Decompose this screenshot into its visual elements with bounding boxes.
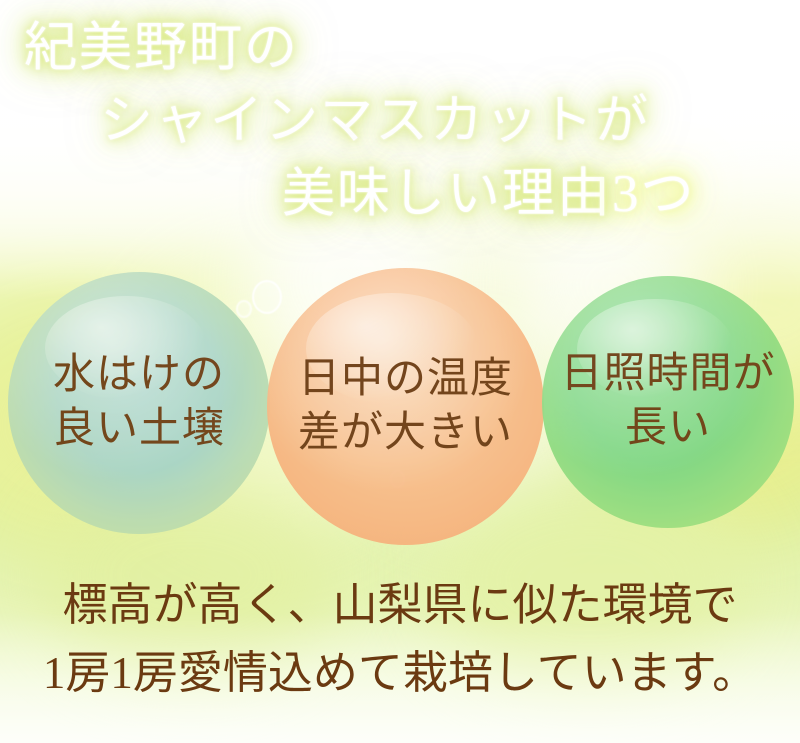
headline: 紀美野町の シャインマスカットが 美味しい理由3つ [0,8,800,221]
headline-line-3: 美味しい理由3つ [0,168,800,221]
reason-label-line-2: 差が大きい [298,407,513,461]
water-droplet-icon [236,300,252,318]
headline-line-3-main: 美味しい理由 [282,165,612,223]
reason-circle-sunlight: 日照時間が 長い [542,276,794,528]
reason-circle-soil: 水はけの 良い土壌 [8,272,270,534]
reason-circle-temperature: 日中の温度 差が大きい [267,268,544,545]
promo-poster: 紀美野町の シャインマスカットが 美味しい理由3つ 水はけの 良い土壌 日中の温… [0,0,800,743]
reason-label-line-2: 長い [625,402,711,456]
caption: 標高が高く、山梨県に似た環境で 1房1房愛情込めて栽培しています。 [0,572,800,707]
reason-label-line-1: 水はけの [53,349,225,403]
reason-label-line-1: 日中の温度 [298,353,513,407]
reason-label-line-1: 日照時間が [560,348,775,402]
caption-line-1: 標高が高く、山梨県に似た環境で [0,572,800,640]
headline-line-2: シャインマスカットが [0,95,800,148]
reason-label-line-2: 良い土壌 [53,403,225,457]
caption-line-2: 1房1房愛情込めて栽培しています。 [0,640,800,708]
headline-line-1: 紀美野町の [0,22,800,75]
headline-reason-count: 3つ [612,165,696,223]
